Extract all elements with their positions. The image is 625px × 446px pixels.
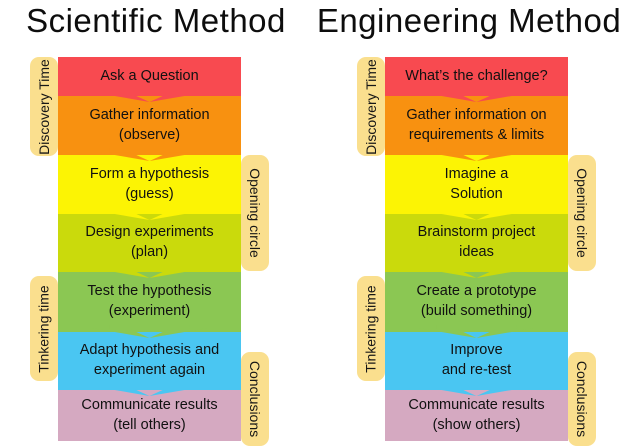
- flow-step-line: What’s the challenge?: [405, 67, 547, 87]
- flow-step-line: (show others): [433, 416, 521, 436]
- flow-step-line: Communicate results: [81, 396, 217, 416]
- tab-label: Opening circle: [574, 168, 590, 258]
- flow-step-line: Gather information on: [406, 106, 546, 126]
- flow-step-line: and re-test: [442, 361, 511, 381]
- flow-step-line: (experiment): [109, 302, 190, 322]
- tab-tinkering-time-left: Tinkering time: [30, 276, 58, 381]
- flow-step-7[interactable]: Communicate results (tell others): [58, 390, 241, 441]
- flow-step-line: ideas: [459, 243, 494, 263]
- flow-step-line: Solution: [450, 185, 502, 205]
- flow-step-4[interactable]: Brainstorm project ideas: [385, 214, 568, 272]
- flow-step-line: Adapt hypothesis and: [80, 341, 219, 361]
- flow-step-1[interactable]: Ask a Question: [58, 57, 241, 96]
- tab-label: Discovery Time: [36, 59, 52, 155]
- flowchart-scientific-method: Ask a Question Gather information (obser…: [58, 57, 241, 441]
- tab-discovery-time-left: Discovery Time: [357, 57, 385, 156]
- flow-step-line: Improve: [450, 341, 502, 361]
- flow-step-5[interactable]: Test the hypothesis (experiment): [58, 272, 241, 332]
- tab-label: Tinkering time: [363, 285, 379, 372]
- flow-step-line: (observe): [119, 126, 180, 146]
- tab-label: Discovery Time: [363, 59, 379, 155]
- flow-step-line: experiment again: [94, 361, 205, 381]
- flow-step-1[interactable]: What’s the challenge?: [385, 57, 568, 96]
- flow-step-line: (guess): [125, 185, 173, 205]
- flow-step-4[interactable]: Design experiments (plan): [58, 214, 241, 272]
- diagram-canvas: Scientific Method Discovery Time Tinkeri…: [0, 0, 625, 446]
- page-title-scientific-method: Scientific Method: [0, 2, 312, 40]
- flow-step-7[interactable]: Communicate results (show others): [385, 390, 568, 441]
- flow-step-line: Gather information: [89, 106, 209, 126]
- flow-step-line: Form a hypothesis: [90, 165, 209, 185]
- page-title-engineering-method: Engineering Method: [313, 2, 625, 40]
- flow-step-line: Design experiments: [85, 223, 213, 243]
- tab-label: Opening circle: [247, 168, 263, 258]
- flow-step-line: (tell others): [113, 416, 186, 436]
- panel-scientific-method: Scientific Method Discovery Time Tinkeri…: [0, 0, 312, 446]
- flow-step-line: requirements & limits: [409, 126, 544, 146]
- flow-step-5[interactable]: Create a prototype (build something): [385, 272, 568, 332]
- tab-label: Tinkering time: [36, 285, 52, 372]
- flow-step-line: (plan): [131, 243, 168, 263]
- flow-step-6[interactable]: Improve and re-test: [385, 332, 568, 390]
- tab-label: Conclusions: [574, 361, 590, 437]
- flow-step-line: Test the hypothesis: [87, 282, 211, 302]
- flow-step-6[interactable]: Adapt hypothesis and experiment again: [58, 332, 241, 390]
- flow-step-line: Communicate results: [408, 396, 544, 416]
- flow-step-3[interactable]: Imagine a Solution: [385, 155, 568, 214]
- tab-tinkering-time-left: Tinkering time: [357, 276, 385, 381]
- flow-step-line: Brainstorm project: [418, 223, 536, 243]
- panel-engineering-method: Engineering Method Discovery Time Tinker…: [313, 0, 625, 446]
- flow-step-2[interactable]: Gather information on requirements & lim…: [385, 96, 568, 155]
- tab-conclusions-right: Conclusions: [241, 352, 269, 446]
- flow-step-line: (build something): [421, 302, 532, 322]
- flow-step-2[interactable]: Gather information (observe): [58, 96, 241, 155]
- flow-step-line: Ask a Question: [100, 67, 198, 87]
- tab-discovery-time-left: Discovery Time: [30, 57, 58, 156]
- tab-label: Conclusions: [247, 361, 263, 437]
- flow-step-line: Create a prototype: [416, 282, 536, 302]
- tab-opening-circle-right: Opening circle: [568, 155, 596, 271]
- flow-step-line: Imagine a: [445, 165, 509, 185]
- tab-opening-circle-right: Opening circle: [241, 155, 269, 271]
- flow-step-3[interactable]: Form a hypothesis (guess): [58, 155, 241, 214]
- tab-conclusions-right: Conclusions: [568, 352, 596, 446]
- flowchart-engineering-method: What’s the challenge? Gather information…: [385, 57, 568, 441]
